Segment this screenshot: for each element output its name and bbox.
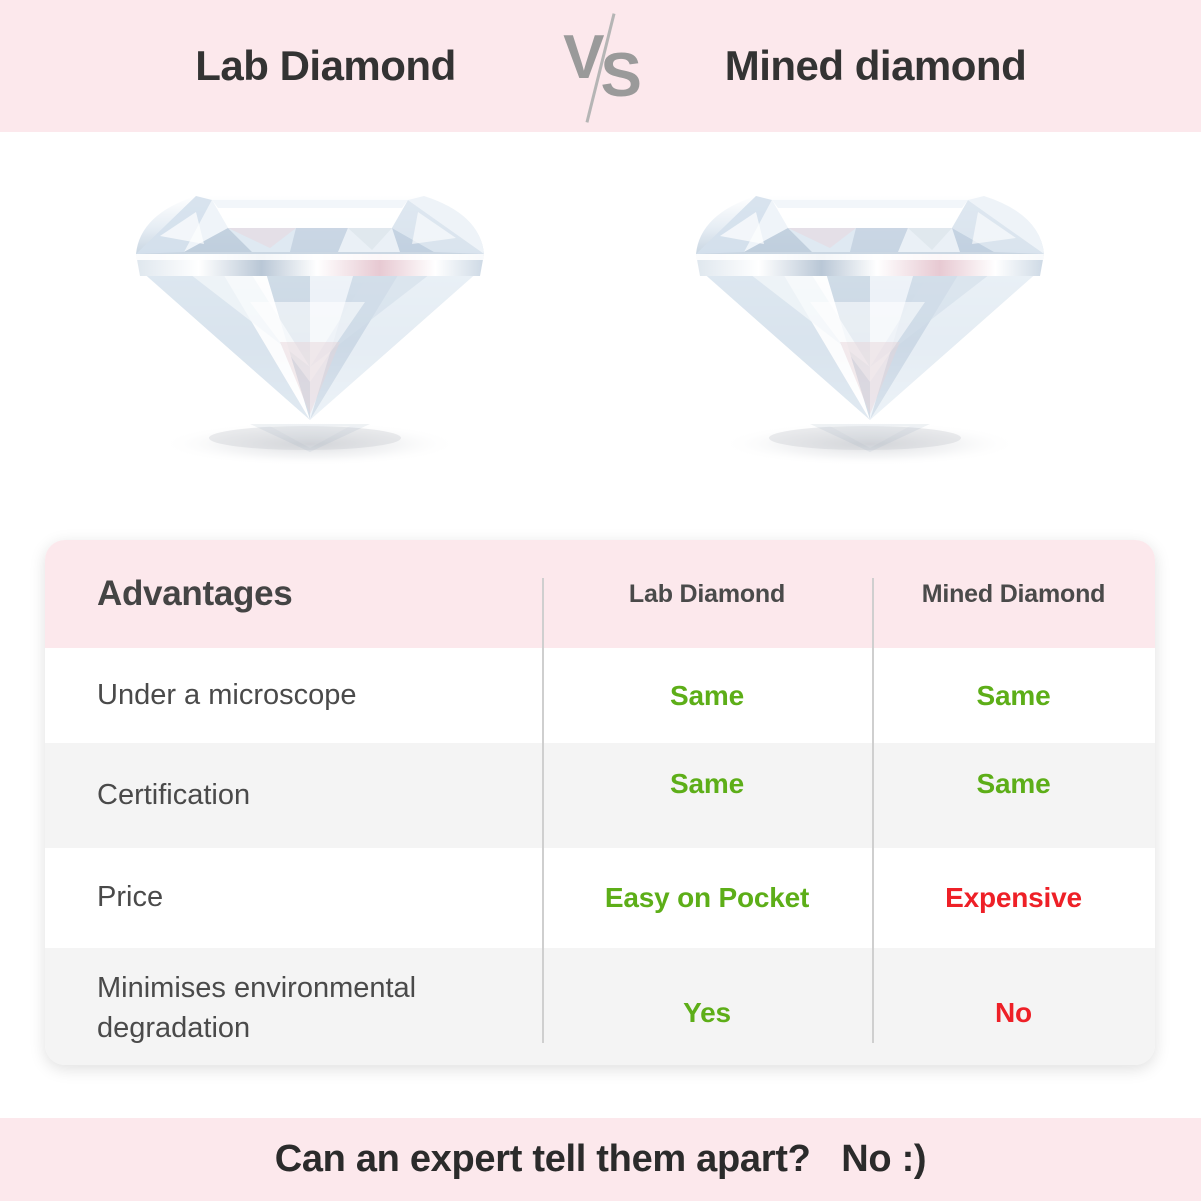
- header-title-lab: Lab Diamond: [111, 42, 541, 90]
- column-divider-1: [542, 578, 544, 1043]
- row-feature-label: Under a microscope: [97, 679, 357, 711]
- mined-diamond-image: [660, 152, 1080, 482]
- row-mined-cell: Expensive: [872, 882, 1155, 914]
- row-feature-cell: Certification: [45, 776, 542, 815]
- vs-badge: VS: [541, 6, 661, 126]
- diamond-images-section: [0, 132, 1201, 530]
- row-feature-label: Price: [97, 881, 163, 913]
- header-label-advantages: Advantages: [97, 574, 292, 613]
- row-mined-cell: Same: [872, 780, 1155, 812]
- row-feature-label: Minimises environmental degradation: [97, 972, 416, 1043]
- lab-diamond-image: [100, 152, 520, 482]
- header-cell-advantages: Advantages: [45, 574, 542, 614]
- table-row: Under a microscope Same Same: [45, 648, 1155, 743]
- column-divider-2: [872, 578, 874, 1043]
- row-lab-value: Same: [670, 680, 744, 711]
- header-label-mined-diamond: Mined Diamond: [922, 580, 1106, 608]
- header-cell-lab-diamond: Lab Diamond: [542, 580, 872, 609]
- row-mined-value: No: [995, 997, 1032, 1028]
- row-feature-cell: Price: [45, 878, 542, 917]
- footer-question-text: Can an expert tell them apart? No :): [275, 1138, 927, 1181]
- footer-band: Can an expert tell them apart? No :): [0, 1118, 1201, 1201]
- row-lab-cell: Easy on Pocket: [542, 882, 872, 914]
- row-feature-label: Certification: [97, 779, 250, 811]
- row-lab-cell: Same: [542, 680, 872, 712]
- header-band: Lab Diamond VS Mined diamond: [0, 0, 1201, 132]
- header-cell-mined-diamond: Mined Diamond: [872, 580, 1155, 609]
- row-lab-value: Same: [670, 768, 744, 799]
- table-row: Price Easy on Pocket Expensive: [45, 848, 1155, 948]
- row-mined-value: Same: [977, 680, 1051, 711]
- row-mined-value: Expensive: [945, 882, 1082, 913]
- table-row: Certification Same Same: [45, 743, 1155, 848]
- header-title-mined: Mined diamond: [661, 42, 1091, 90]
- header-label-lab-diamond: Lab Diamond: [629, 580, 785, 608]
- row-mined-cell: No: [872, 991, 1155, 1023]
- row-lab-cell: Same: [542, 780, 872, 812]
- table-row: Minimises environmental degradation Yes …: [45, 948, 1155, 1065]
- row-mined-cell: Same: [872, 680, 1155, 712]
- row-feature-cell: Minimises environmental degradation: [45, 967, 542, 1045]
- table-header-row: Advantages Lab Diamond Mined Diamond: [45, 540, 1155, 648]
- row-lab-value: Easy on Pocket: [605, 882, 809, 913]
- row-lab-value: Yes: [683, 997, 731, 1028]
- row-lab-cell: Yes: [542, 991, 872, 1023]
- comparison-table: Advantages Lab Diamond Mined Diamond Und…: [45, 540, 1155, 1065]
- row-mined-value: Same: [977, 768, 1051, 799]
- comparison-card: Advantages Lab Diamond Mined Diamond Und…: [45, 540, 1155, 1065]
- row-feature-cell: Under a microscope: [45, 676, 542, 715]
